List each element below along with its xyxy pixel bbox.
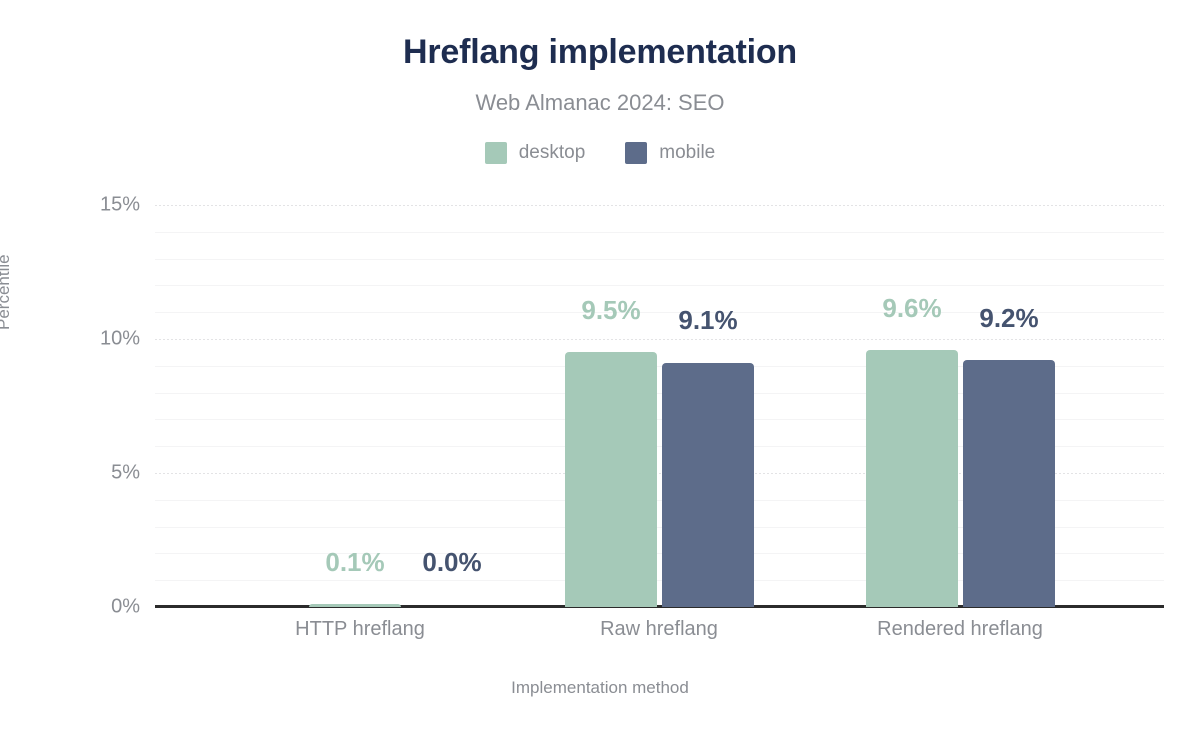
legend-item-mobile[interactable]: mobile bbox=[625, 142, 715, 164]
y-tick-label-10: 10% bbox=[60, 328, 140, 351]
gridline-major-10 bbox=[155, 339, 1164, 340]
legend-swatch-desktop bbox=[485, 142, 507, 164]
gridline-minor-13 bbox=[155, 259, 1164, 260]
x-tick-label-rendered-hreflang: Rendered hreflang bbox=[877, 618, 1043, 641]
legend-label-mobile: mobile bbox=[659, 142, 715, 164]
bar-http-hreflang-desktop[interactable] bbox=[309, 604, 401, 607]
bar-label-http-hreflang-mobile: 0.0% bbox=[422, 547, 481, 578]
chart-subtitle: Web Almanac 2024: SEO bbox=[0, 90, 1200, 116]
x-axis-title: Implementation method bbox=[0, 678, 1200, 698]
bar-label-http-hreflang-desktop: 0.1% bbox=[325, 547, 384, 578]
x-tick-label-http-hreflang: HTTP hreflang bbox=[295, 618, 425, 641]
bar-label-rendered-hreflang-desktop: 9.6% bbox=[882, 293, 941, 324]
plot-area: 0.1% 0.0% 9.5% 9.1% 9.6% 9.2% bbox=[155, 205, 1164, 607]
y-tick-label-15: 15% bbox=[60, 194, 140, 217]
bar-label-raw-hreflang-mobile: 9.1% bbox=[678, 305, 737, 336]
chart-figure: Hreflang implementation Web Almanac 2024… bbox=[0, 0, 1200, 742]
legend-item-desktop[interactable]: desktop bbox=[485, 142, 586, 164]
y-axis-title: Percentile bbox=[0, 254, 14, 330]
bar-raw-hreflang-mobile[interactable] bbox=[662, 363, 754, 607]
y-tick-label-5: 5% bbox=[60, 462, 140, 485]
bar-label-raw-hreflang-desktop: 9.5% bbox=[581, 295, 640, 326]
gridline-minor-12 bbox=[155, 285, 1164, 286]
chart-title: Hreflang implementation bbox=[0, 33, 1200, 72]
bar-rendered-hreflang-mobile[interactable] bbox=[963, 360, 1055, 607]
chart-legend: desktop mobile bbox=[0, 142, 1200, 164]
gridline-minor-14 bbox=[155, 232, 1164, 233]
bar-rendered-hreflang-desktop[interactable] bbox=[866, 350, 958, 607]
x-tick-label-raw-hreflang: Raw hreflang bbox=[600, 618, 718, 641]
legend-label-desktop: desktop bbox=[519, 142, 586, 164]
bar-raw-hreflang-desktop[interactable] bbox=[565, 352, 657, 607]
bar-label-rendered-hreflang-mobile: 9.2% bbox=[979, 303, 1038, 334]
y-tick-label-0: 0% bbox=[60, 596, 140, 619]
gridline-major-15 bbox=[155, 205, 1164, 206]
legend-swatch-mobile bbox=[625, 142, 647, 164]
